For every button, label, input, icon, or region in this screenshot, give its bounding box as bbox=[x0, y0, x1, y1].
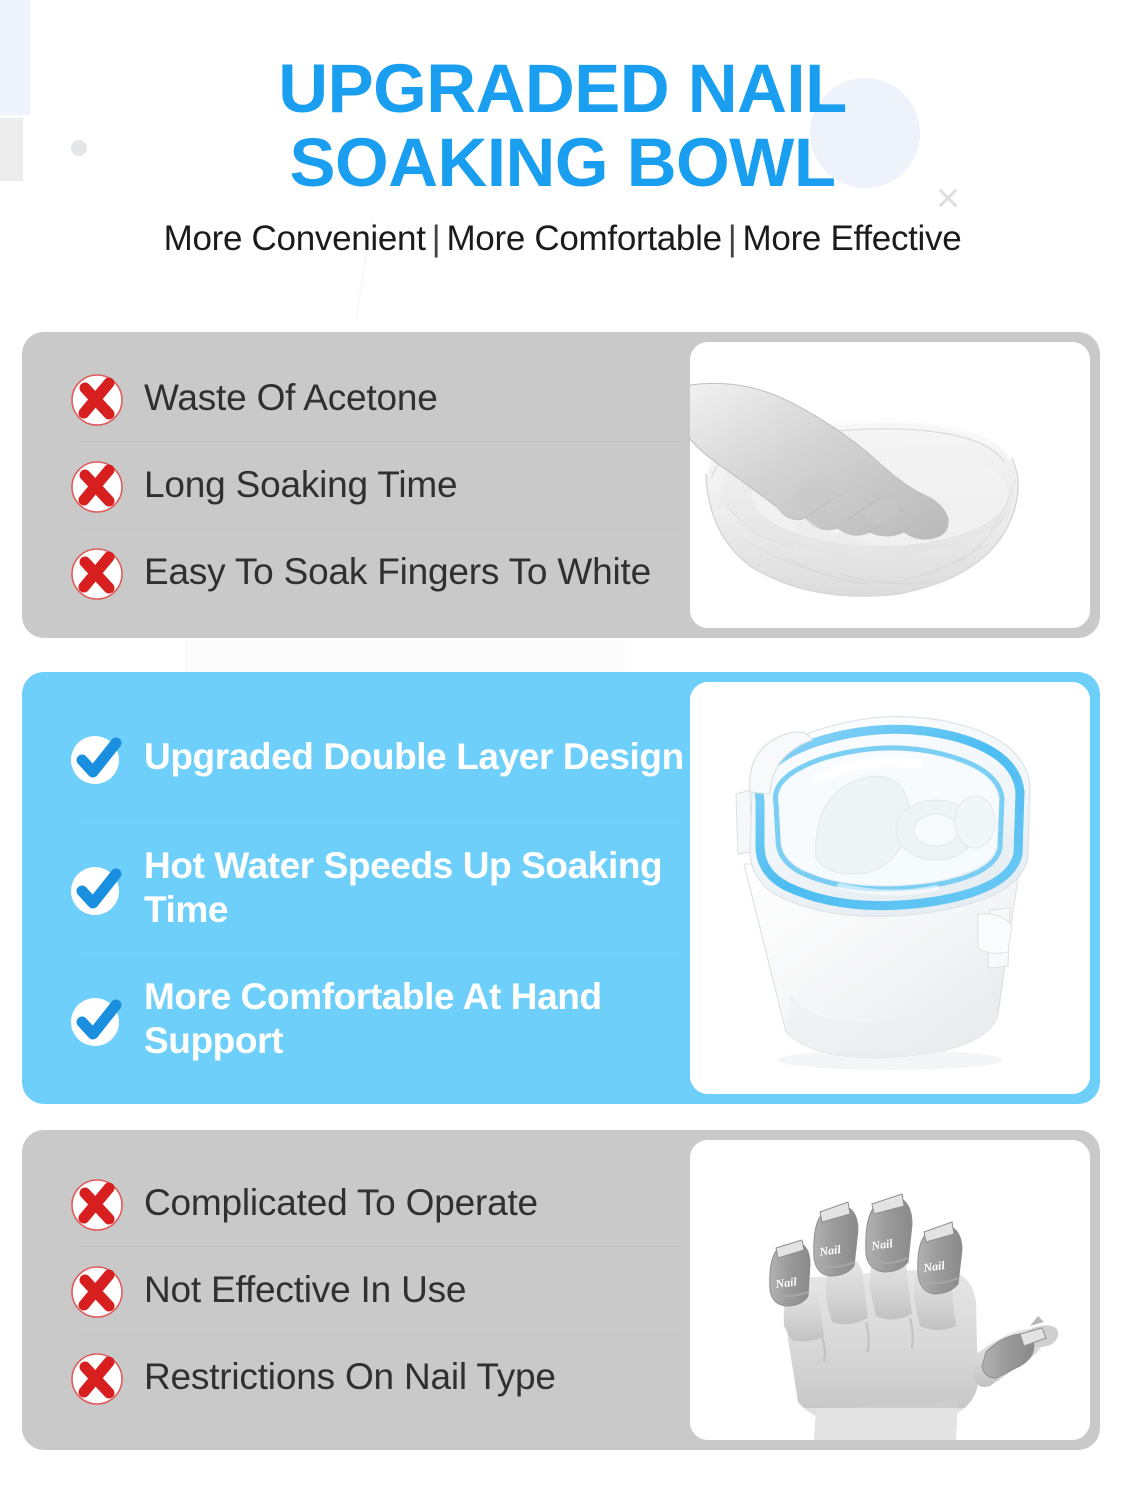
list-item: Hot Water Speeds Up Soaking Time bbox=[66, 823, 696, 953]
subtitle-part-1: More Convenient bbox=[164, 219, 426, 258]
hand-soaking-in-glass-bowl-photo bbox=[690, 342, 1090, 628]
blue-check-icon bbox=[66, 988, 128, 1050]
red-x-icon bbox=[66, 1346, 128, 1408]
list-item-label: Easy To Soak Fingers To White bbox=[144, 550, 651, 594]
list-item-label: Waste Of Acetone bbox=[144, 376, 438, 420]
page-subtitle: More Convenient|More Comfortable|More Ef… bbox=[0, 200, 1125, 259]
blue-check-icon bbox=[66, 857, 128, 919]
list-item: Restrictions On Nail Type bbox=[66, 1334, 691, 1420]
page-title: UPGRADED NAIL SOAKING BOWL bbox=[0, 0, 1125, 200]
white-soaking-bowl-product-photo bbox=[690, 682, 1090, 1094]
list-item-label: Long Soaking Time bbox=[144, 463, 457, 507]
subtitle-separator-1: | bbox=[426, 219, 447, 258]
list-item-label: Hot Water Speeds Up Soaking Time bbox=[144, 844, 696, 931]
feature-list: Complicated To Operate Not Effective In … bbox=[66, 1130, 691, 1450]
list-item-label: Not Effective In Use bbox=[144, 1268, 466, 1312]
feature-list: Waste Of Acetone Long Soaking Time bbox=[66, 332, 691, 638]
list-item: Long Soaking Time bbox=[66, 442, 691, 528]
list-item: Easy To Soak Fingers To White bbox=[66, 529, 691, 615]
list-item: Upgraded Double Layer Design bbox=[66, 692, 696, 822]
feature-list: Upgraded Double Layer Design Hot Water S… bbox=[66, 672, 696, 1104]
page-title-line-2: SOAKING BOWL bbox=[0, 126, 1125, 200]
red-x-icon bbox=[66, 1172, 128, 1234]
list-item-label: More Comfortable At Hand Support bbox=[144, 975, 696, 1062]
subtitle-separator-2: | bbox=[722, 219, 743, 258]
header: UPGRADED NAIL SOAKING BOWL More Convenie… bbox=[0, 0, 1125, 259]
clip-label: Nail bbox=[774, 1274, 799, 1291]
list-item: Not Effective In Use bbox=[66, 1247, 691, 1333]
red-x-icon bbox=[66, 367, 128, 429]
list-item-label: Complicated To Operate bbox=[144, 1181, 538, 1225]
list-item: Waste Of Acetone bbox=[66, 355, 691, 441]
red-x-icon bbox=[66, 454, 128, 516]
list-item-label: Restrictions On Nail Type bbox=[144, 1355, 556, 1399]
red-x-icon bbox=[66, 541, 128, 603]
list-item-label: Upgraded Double Layer Design bbox=[144, 735, 684, 779]
list-item: More Comfortable At Hand Support bbox=[66, 954, 696, 1084]
blue-check-icon bbox=[66, 726, 128, 788]
subtitle-part-3: More Effective bbox=[743, 219, 962, 258]
red-x-icon bbox=[66, 1259, 128, 1321]
subtitle-part-2: More Comfortable bbox=[446, 219, 721, 258]
page-title-line-1: UPGRADED NAIL bbox=[0, 52, 1125, 126]
hand-with-nail-clips-photo: Nail Nail Nail Nail bbox=[690, 1140, 1090, 1440]
list-item: Complicated To Operate bbox=[66, 1160, 691, 1246]
